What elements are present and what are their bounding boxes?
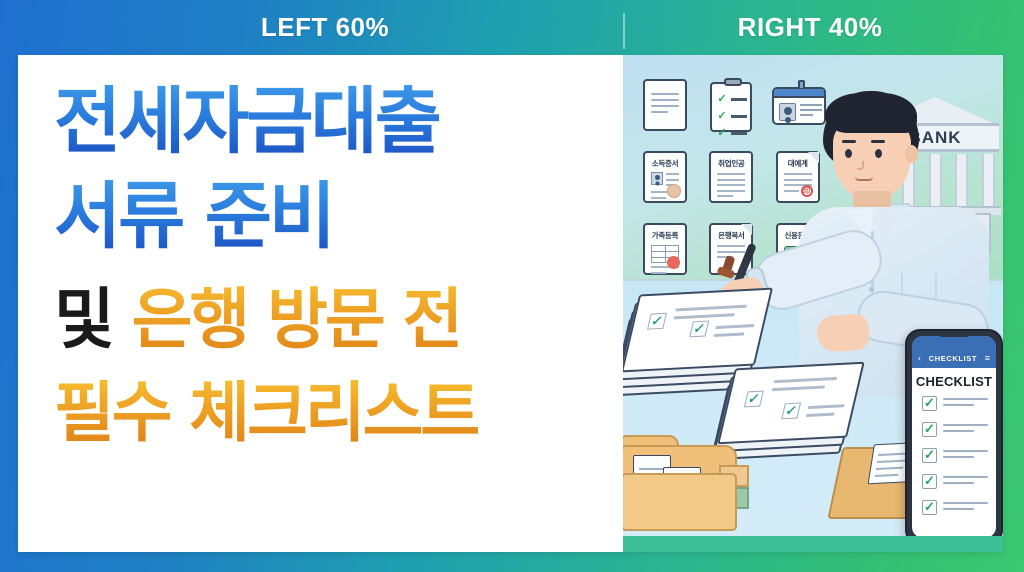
check-icon: ✓ <box>744 391 764 408</box>
headline-line-1: 전세자금대출 <box>54 85 439 158</box>
paper-line <box>675 305 747 311</box>
phone-status-bar <box>912 336 996 348</box>
phone-mockup[interactable]: ‹ CHECKLIST ≡ CHECKLIST ✓ ✓ <box>905 329 1003 545</box>
headline-line-3: 및 은행 방문 전 <box>54 287 460 353</box>
eye-left <box>845 149 852 158</box>
phone-app-bar-title: CHECKLIST <box>929 354 977 363</box>
document-photo <box>651 172 663 185</box>
hand-right <box>816 313 870 353</box>
illustration-pane: BANK <box>623 55 1003 552</box>
check-icon: ✓ <box>717 111 726 122</box>
shirt-button <box>869 287 874 292</box>
phone-heading: CHECKLIST <box>912 374 996 389</box>
banner-label-right: RIGHT 40% <box>660 12 960 43</box>
mouth <box>855 177 873 181</box>
checklist-item[interactable]: ✓ <box>922 396 988 411</box>
document-icon: 가족등록 <box>643 223 687 275</box>
checkbox-checked-icon[interactable]: ✓ <box>922 500 937 515</box>
eyebrow-left <box>842 140 856 143</box>
checklist-item[interactable]: ✓ <box>922 448 988 463</box>
seal-stamp <box>667 256 680 269</box>
eye-right <box>875 149 882 158</box>
paper-line <box>715 324 754 328</box>
eyebrow-right <box>871 140 885 143</box>
folder-left-front <box>623 473 737 531</box>
ear <box>905 145 918 163</box>
doc-cell-paper-stack <box>637 77 694 133</box>
paper-line <box>674 313 735 319</box>
nose <box>857 161 864 170</box>
checkbox-checked-icon[interactable]: ✓ <box>922 474 937 489</box>
clipboard-rows: ✓ ✓ ✓ <box>717 94 749 145</box>
doc-lines <box>717 173 745 201</box>
checkbox-checked-icon[interactable]: ✓ <box>922 422 937 437</box>
check-icon: ✓ <box>781 402 801 419</box>
paper-line <box>713 332 744 336</box>
checklist-item[interactable]: ✓ <box>922 474 988 489</box>
phone-notch <box>939 332 969 337</box>
checkbox-checked-icon[interactable]: ✓ <box>922 448 937 463</box>
phone-app-bar: ‹ CHECKLIST ≡ <box>912 348 996 368</box>
paper-pile-top: ✓ ✓ <box>623 288 773 373</box>
paper-line <box>772 385 825 390</box>
document-label: 소득증서 <box>650 158 680 169</box>
checklist-item-text <box>943 474 988 488</box>
check-icon: ✓ <box>717 128 726 139</box>
doc-cell-clipboard: ✓ ✓ ✓ <box>703 77 760 133</box>
document-label: 은행복서 <box>716 230 746 241</box>
hair-fringe <box>825 93 917 133</box>
phone-screen[interactable]: ‹ CHECKLIST ≡ CHECKLIST ✓ ✓ <box>912 336 996 538</box>
seal-stamp <box>667 184 681 198</box>
paper-line <box>806 413 835 417</box>
check-icon: ✓ <box>689 320 709 337</box>
banner-label-left: LEFT 60% <box>180 12 470 43</box>
document-icon: 소득증서 <box>643 151 687 203</box>
check-icon: ✓ <box>717 94 726 105</box>
checklist-item-text <box>943 396 988 410</box>
doc-cell-family-register: 가족등록 <box>637 221 694 277</box>
headline-line-2: 서류 준비 <box>54 180 333 253</box>
paper-line <box>808 404 845 408</box>
shirt-collar-right <box>875 208 906 245</box>
clipboard-icon: ✓ ✓ ✓ <box>710 82 752 132</box>
checklist-item[interactable]: ✓ <box>922 422 988 437</box>
paper-stack-icon <box>643 79 687 131</box>
headline-line-4: 필수 체크리스트 <box>54 380 478 446</box>
checklist-item[interactable]: ✓ <box>922 500 988 515</box>
check-icon: ✓ <box>647 313 667 330</box>
document-label: 가족등록 <box>650 230 680 241</box>
id-badge-photo <box>779 103 796 121</box>
doc-cell-income-certificate: 소득증서 <box>637 149 694 205</box>
clipboard-clip <box>724 78 742 86</box>
headline-line-3-black: 및 <box>54 281 112 358</box>
document-icon: 취업인공 <box>709 151 753 203</box>
phone-checklist: ✓ ✓ ✓ ✓ <box>922 396 988 526</box>
hamburger-menu-icon[interactable]: ≡ <box>985 354 990 363</box>
checklist-item-text <box>943 448 988 462</box>
checkbox-checked-icon[interactable]: ✓ <box>922 396 937 411</box>
poster-canvas: LEFT 60% RIGHT 40% 전세자금대출 서류 준비 및 은행 방문 … <box>0 0 1024 572</box>
checklist-item-text <box>943 422 988 436</box>
paper-pile-front: ✓ ✓ <box>717 362 865 445</box>
doc-cell-employment-certificate: 취업인공 <box>703 149 760 205</box>
doc-lines <box>651 93 679 117</box>
back-arrow-icon[interactable]: ‹ <box>918 354 921 363</box>
headline-line-3-orange: 은행 방문 전 <box>132 281 461 358</box>
checklist-item-text <box>943 500 988 514</box>
floor-strip <box>623 536 1003 552</box>
headline-pane: 전세자금대출 서류 준비 및 은행 방문 전 필수 체크리스트 <box>18 55 623 552</box>
document-label: 취업인공 <box>716 158 746 169</box>
banner-divider <box>623 13 625 49</box>
content-card: 전세자금대출 서류 준비 및 은행 방문 전 필수 체크리스트 BANK <box>18 55 1003 552</box>
paper-line <box>774 377 837 383</box>
